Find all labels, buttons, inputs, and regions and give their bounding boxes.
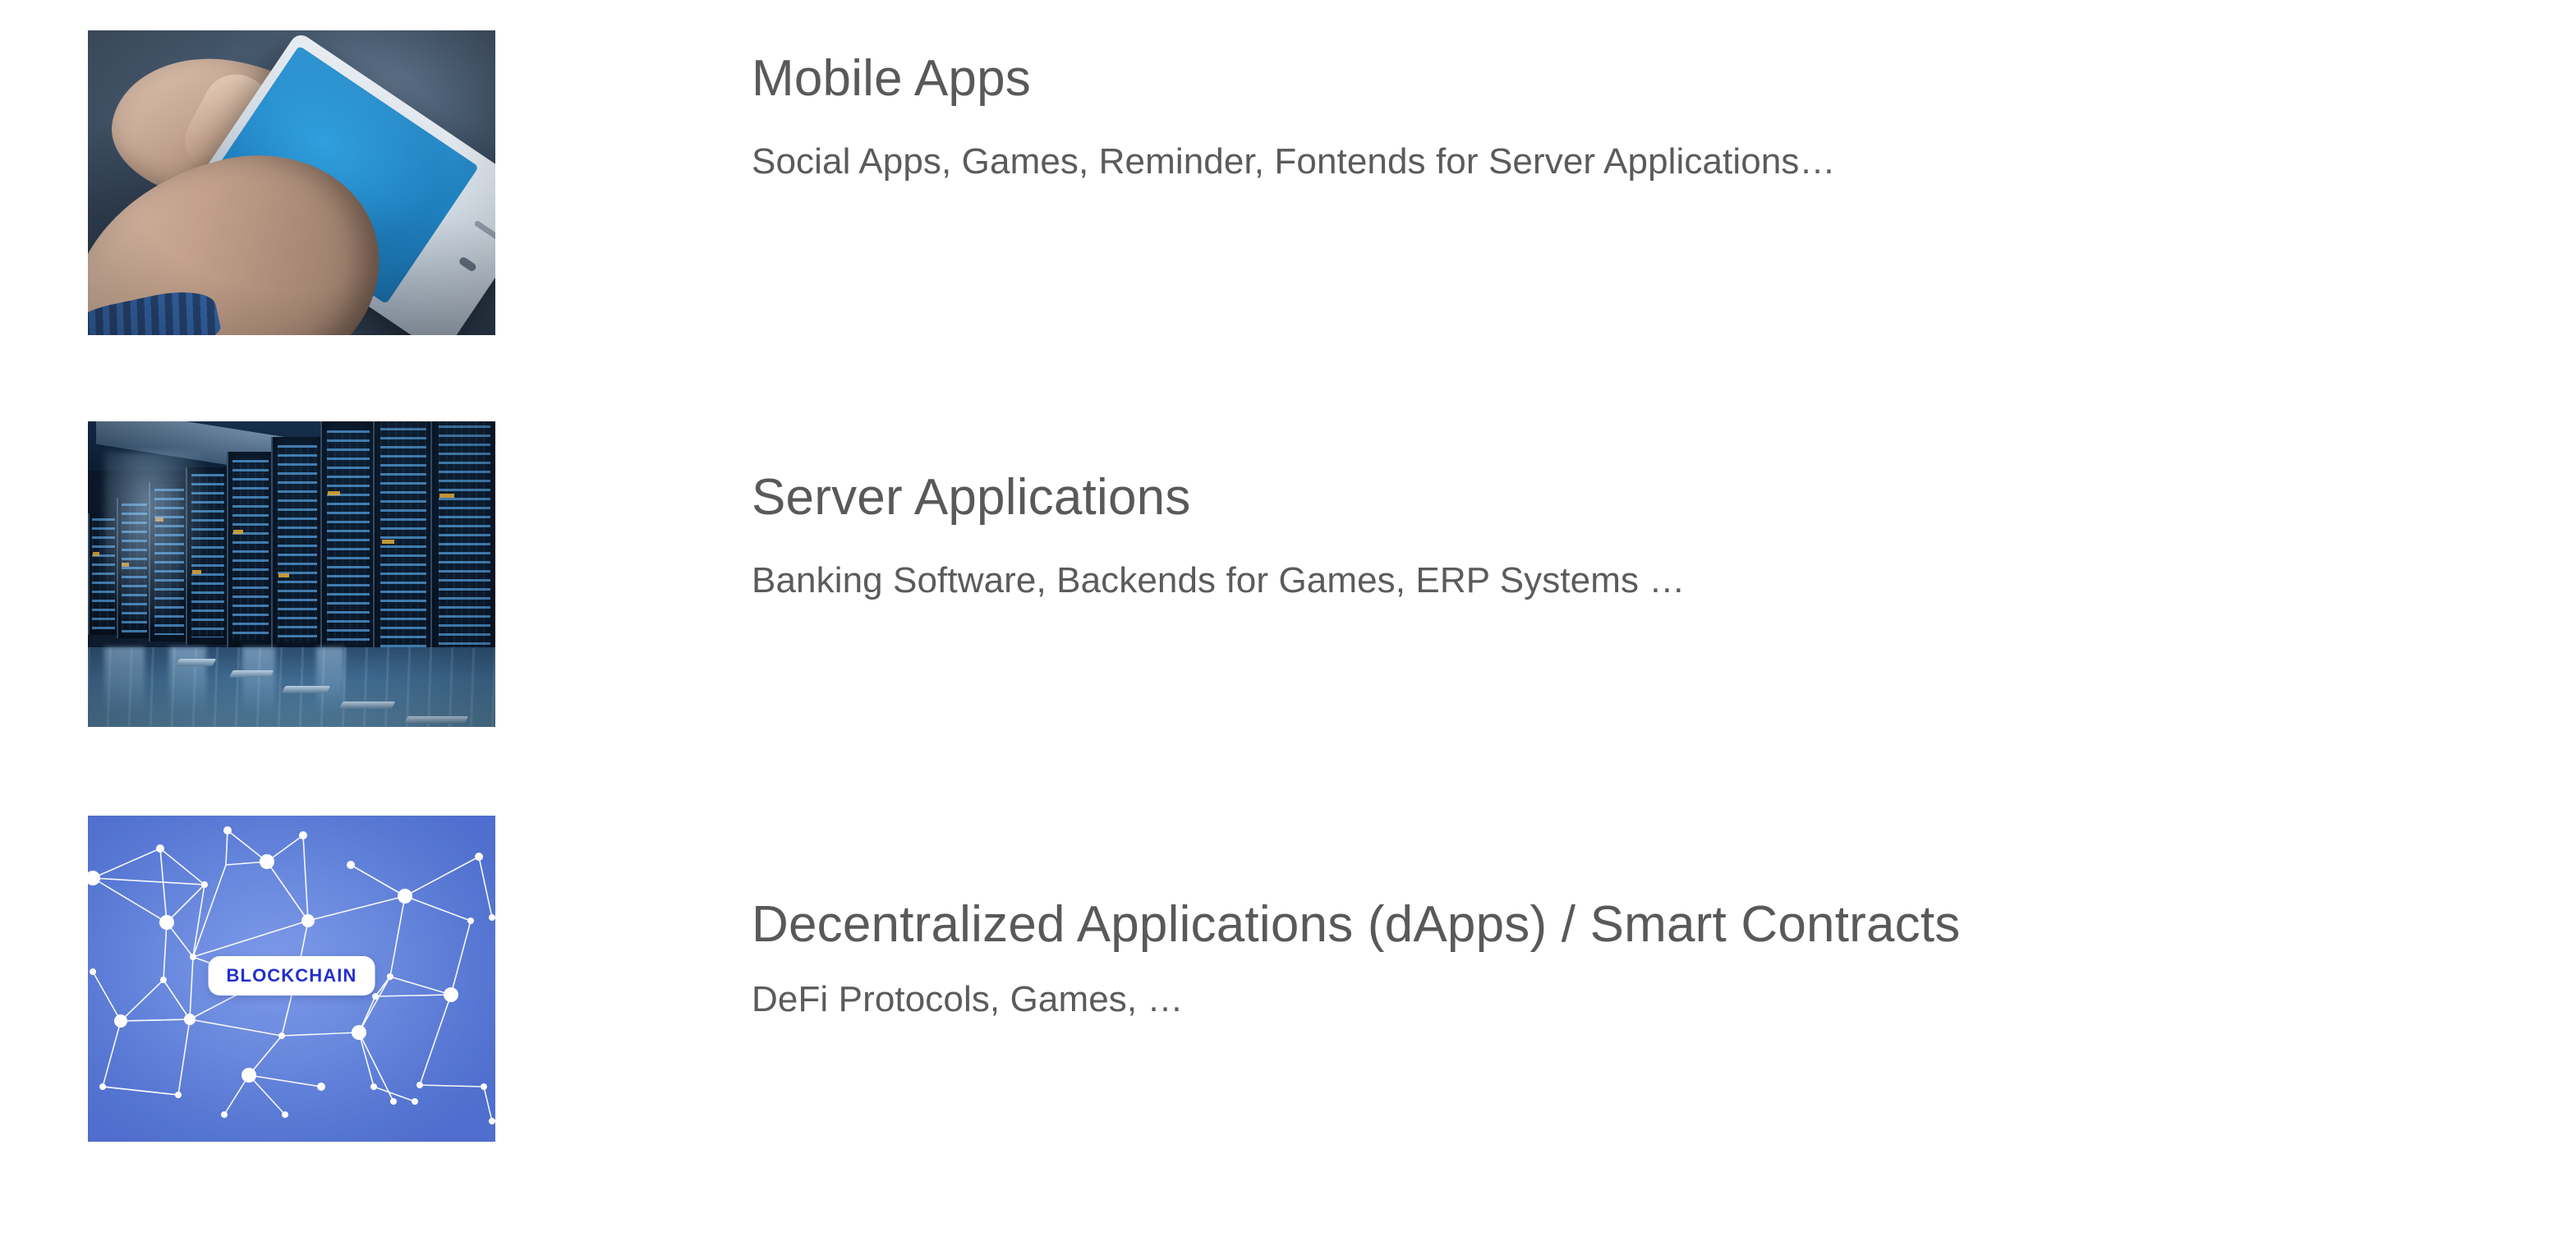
- blockchain-label-badge: BLOCKCHAIN: [209, 956, 375, 996]
- server-rack: [271, 437, 324, 651]
- floor-reflection: [104, 647, 145, 727]
- floor-vent: [338, 701, 395, 709]
- dapps-heading: Decentralized Applications (dApps) / Sma…: [752, 895, 1961, 954]
- floor-vent: [403, 716, 468, 724]
- rack-led-strip: [232, 460, 269, 640]
- rack-amber-light: [382, 540, 394, 544]
- floor-vent: [176, 659, 216, 666]
- proximity-sensor: [458, 256, 477, 274]
- mobile-apps-photo: [88, 30, 495, 335]
- rack-amber-light: [233, 530, 243, 534]
- page-root: Mobile Apps Social Apps, Games, Reminder…: [0, 0, 2576, 1237]
- dapps-thumbnail[interactable]: BLOCKCHAIN: [88, 816, 495, 1142]
- rack-led-strip: [327, 430, 370, 644]
- server-rack: [320, 421, 376, 654]
- rack-led-strip: [380, 421, 426, 650]
- mobile-apps-thumbnail[interactable]: [88, 30, 495, 335]
- mobile-apps-text-column: Mobile Apps Social Apps, Games, Reminder…: [752, 49, 1836, 184]
- rack-led-strip: [439, 421, 491, 655]
- mobile-apps-heading: Mobile Apps: [752, 49, 1836, 108]
- rack-led-strip: [278, 445, 317, 642]
- rack-amber-light: [278, 573, 289, 577]
- floor-reflection: [242, 647, 275, 727]
- server-rack: [373, 421, 433, 660]
- aisle-light-glow: [104, 452, 210, 629]
- server-rack: [227, 452, 275, 647]
- floor-vent: [228, 670, 273, 678]
- blockchain-label-text: BLOCKCHAIN: [227, 967, 357, 985]
- earpiece-speaker: [473, 220, 495, 243]
- dapps-subtitle: DeFi Protocols, Games, …: [752, 977, 1961, 1022]
- rack-amber-light: [93, 552, 99, 556]
- server-room-photo: [88, 421, 495, 727]
- server-applications-heading: Server Applications: [752, 468, 1686, 527]
- server-applications-text-column: Server Applications Banking Software, Ba…: [752, 468, 1686, 603]
- rack-amber-light: [439, 494, 453, 498]
- dapps-text-column: Decentralized Applications (dApps) / Sma…: [752, 895, 1961, 1022]
- server-applications-subtitle: Banking Software, Backends for Games, ER…: [752, 559, 1686, 603]
- mobile-apps-subtitle: Social Apps, Games, Reminder, Fontends f…: [752, 140, 1836, 184]
- server-applications-thumbnail[interactable]: [88, 421, 495, 727]
- blockchain-network-graphic: BLOCKCHAIN: [88, 816, 495, 1142]
- rack-amber-light: [328, 491, 339, 495]
- floor-vent: [282, 686, 330, 693]
- server-rack: [430, 421, 495, 666]
